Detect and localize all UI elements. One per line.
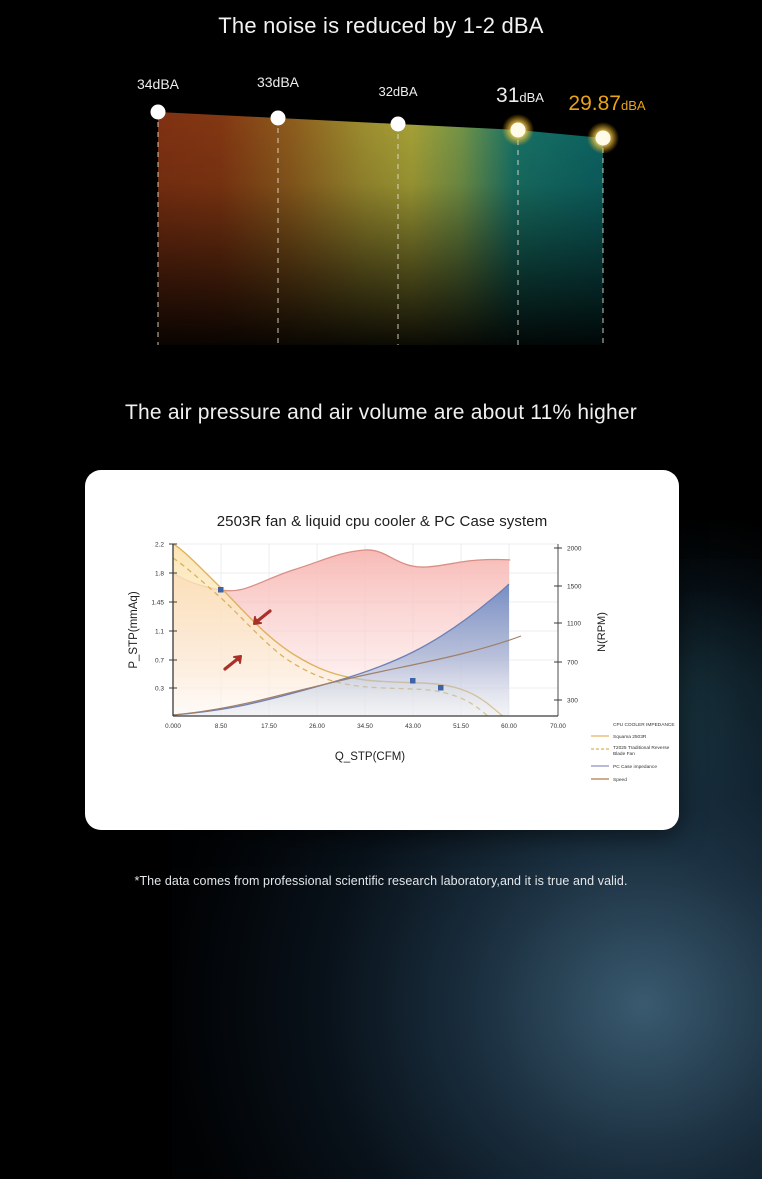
performance-chart-svg: 2.2 1.8 1.45 1.1 0.7 0.3 2000 1500 1100 …: [85, 470, 679, 830]
performance-chart-card: 2503R fan & liquid cpu cooler & PC Case …: [85, 470, 679, 830]
legend-label-speed: Speed: [613, 777, 627, 783]
y-tick-1-45: 1.45: [151, 600, 164, 607]
y-axis-label: P_STP(mmAq): [128, 591, 140, 668]
y2-tick-2000: 2000: [567, 546, 582, 553]
headline-air-pressure: The air pressure and air volume are abou…: [0, 401, 762, 425]
headline-noise-reduction: The noise is reduced by 1-2 dBA: [0, 13, 762, 39]
chart-legend: CPU COOLER IMPEDANCE Squama 2503R T2025 …: [591, 722, 675, 783]
noise-unit-4: dBA: [519, 90, 544, 105]
noise-point-3: [391, 117, 406, 132]
x-tick-26: 26.00: [309, 723, 325, 730]
y2-axis-label: N(RPM): [596, 612, 608, 652]
x-tick-60: 60.00: [501, 723, 517, 730]
x-axis-label: Q_STP(CFM): [335, 751, 405, 763]
noise-point-1: [151, 105, 166, 120]
x-tick-70: 70.00: [550, 723, 566, 730]
legend-label-cpu-cooler-impedance: CPU COOLER IMPEDANCE: [613, 722, 675, 728]
noise-unit-5: dBA: [621, 98, 646, 113]
noise-label-5: 29.87dBA: [568, 92, 645, 116]
noise-gradient-chart: 34dBA 33dBA 32dBA 31dBA 29.87dBA: [128, 60, 648, 355]
legend-label-squama: Squama 2503R: [613, 734, 647, 740]
noise-label-2: 33dBA: [257, 74, 299, 90]
noise-point-5: [596, 131, 611, 146]
x-tick-0: 0.000: [165, 723, 181, 730]
noise-gradient-body: [158, 112, 603, 345]
noise-label-1: 34dBA: [137, 76, 179, 92]
x-tick-43: 43.00: [405, 723, 421, 730]
x-tick-8-5: 8.50: [215, 723, 228, 730]
legend-label-pc-case: PC Case impedance: [613, 764, 657, 770]
performance-plot: 2.2 1.8 1.45 1.1 0.7 0.3 2000 1500 1100 …: [85, 470, 679, 830]
x-axis-ticks: 0.000 8.50 17.50 26.00 34.50 43.00 51.50…: [165, 723, 566, 730]
y-tick-0-7: 0.7: [155, 658, 164, 665]
noise-label-4: 31dBA: [496, 84, 544, 108]
x-tick-17-5: 17.50: [261, 723, 277, 730]
y-tick-2-2: 2.2: [155, 542, 164, 549]
y2-tick-1500: 1500: [567, 584, 582, 591]
noise-point-2: [271, 111, 286, 126]
plot-marker-3: [438, 685, 444, 691]
x-tick-51-5: 51.50: [453, 723, 469, 730]
legend-label-t2025-line2: Blade Fan: [613, 751, 635, 757]
plot-marker-2: [410, 678, 416, 684]
y-tick-0-3: 0.3: [155, 686, 164, 693]
footnote-disclaimer: *The data comes from professional scient…: [0, 874, 762, 888]
legend-label-t2025-line1: T2025 Traditional Reverse: [613, 745, 670, 751]
y2-tick-300: 300: [567, 698, 578, 705]
x-tick-34-5: 34.50: [357, 723, 373, 730]
y2-tick-700: 700: [567, 660, 578, 667]
noise-label-3: 32dBA: [378, 84, 417, 99]
noise-point-4: [511, 123, 526, 138]
y2-tick-1100: 1100: [567, 621, 581, 628]
y-tick-1-8: 1.8: [155, 571, 164, 578]
y-tick-1-1: 1.1: [155, 629, 164, 636]
plot-marker-1: [218, 587, 224, 593]
